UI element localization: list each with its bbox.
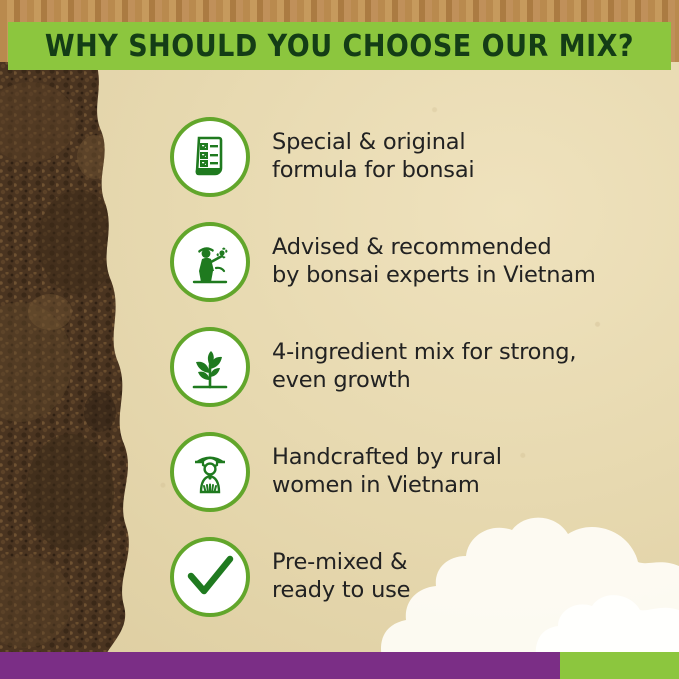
list-item-text: Handcrafted by rural women in Vietnam — [272, 444, 502, 499]
list-item: Advised & recommended by bonsai experts … — [170, 209, 675, 314]
gardener-watering-icon — [170, 222, 250, 302]
rural-woman-icon — [170, 432, 250, 512]
list-item-text: Advised & recommended by bonsai experts … — [272, 234, 596, 289]
list-item-text: 4-ingredient mix for strong, even growth — [272, 339, 576, 394]
feature-line-1: Special & original — [272, 129, 465, 155]
leaves-sprout-icon — [170, 327, 250, 407]
feature-line-2: ready to use — [272, 577, 410, 604]
checklist-document-icon — [170, 117, 250, 197]
feature-line-2: by bonsai experts in Vietnam — [272, 262, 596, 289]
list-item: Pre-mixed & ready to use — [170, 524, 675, 629]
list-item-text: Special & original formula for bonsai — [272, 129, 474, 184]
feature-line-2: even growth — [272, 367, 576, 394]
list-item-text: Pre-mixed & ready to use — [272, 549, 410, 604]
page-title: WHY SHOULD YOU CHOOSE OUR MIX? — [45, 29, 634, 64]
footer-green-bar — [560, 652, 679, 679]
list-item: Handcrafted by rural women in Vietnam — [170, 419, 675, 524]
feature-line-2: formula for bonsai — [272, 157, 474, 184]
checkmark-icon — [170, 537, 250, 617]
list-item: 4-ingredient mix for strong, even growth — [170, 314, 675, 419]
feature-line-1: Pre-mixed & — [272, 549, 407, 575]
feature-line-1: 4-ingredient mix for strong, — [272, 339, 576, 365]
feature-line-1: Handcrafted by rural — [272, 444, 502, 470]
infographic-panel: WHY SHOULD YOU CHOOSE OUR MIX? — [0, 0, 679, 679]
footer-purple-bar — [0, 652, 560, 679]
feature-list: Special & original formula for bonsai — [170, 104, 675, 629]
feature-line-2: women in Vietnam — [272, 472, 502, 499]
header-banner: WHY SHOULD YOU CHOOSE OUR MIX? — [8, 22, 671, 70]
feature-line-1: Advised & recommended — [272, 234, 551, 260]
list-item: Special & original formula for bonsai — [170, 104, 675, 209]
